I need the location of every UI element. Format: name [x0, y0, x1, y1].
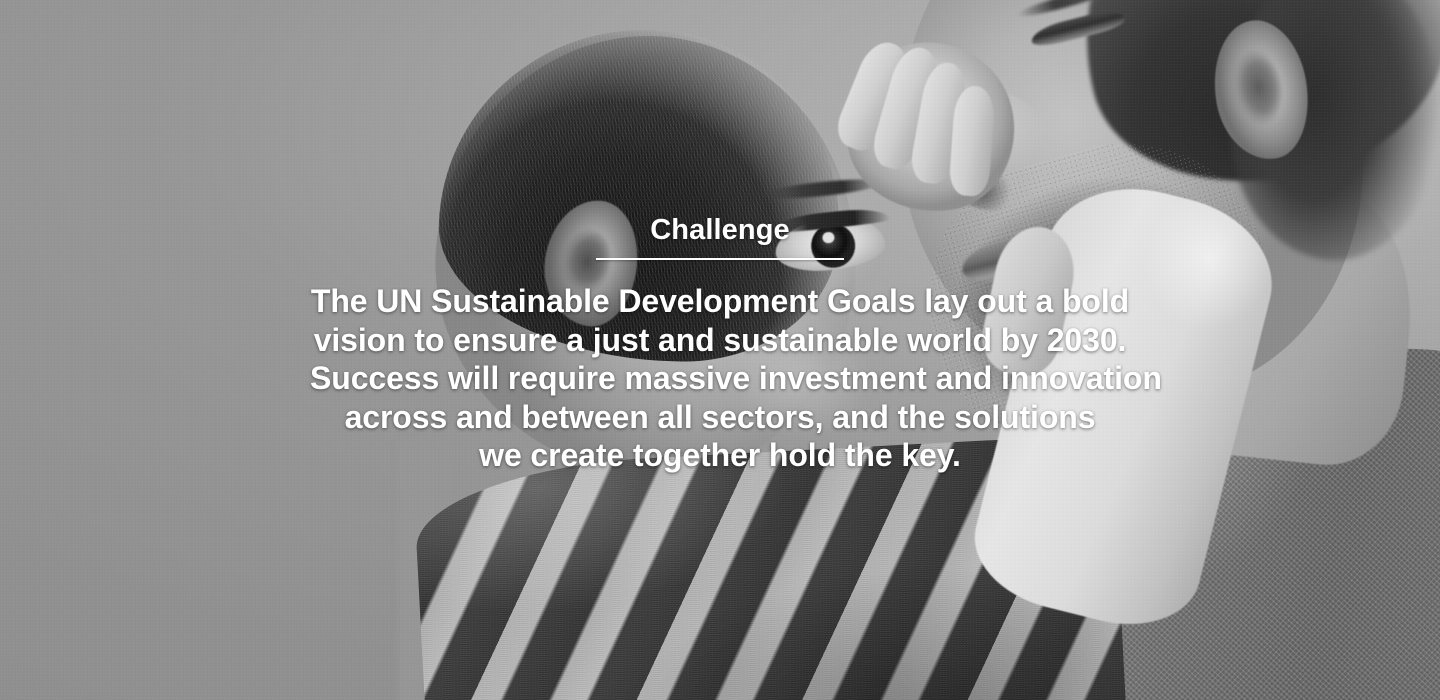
hero-banner: Challenge The UN Sustainable Development… [0, 0, 1440, 700]
hero-body-line: Success will require massive investment … [310, 359, 1130, 398]
hero-body-line: we create together hold the key. [310, 436, 1130, 475]
title-divider-rule [596, 258, 844, 260]
hero-body-line: The UN Sustainable Development Goals lay… [310, 282, 1130, 321]
hero-body-line: vision to ensure a just and sustainable … [310, 321, 1130, 360]
hero-body-copy: The UN Sustainable Development Goals lay… [310, 282, 1130, 475]
hero-section-title: Challenge [650, 215, 790, 245]
hero-text-overlay: Challenge The UN Sustainable Development… [0, 0, 1440, 700]
hero-body-line: across and between all sectors, and the … [310, 398, 1130, 437]
